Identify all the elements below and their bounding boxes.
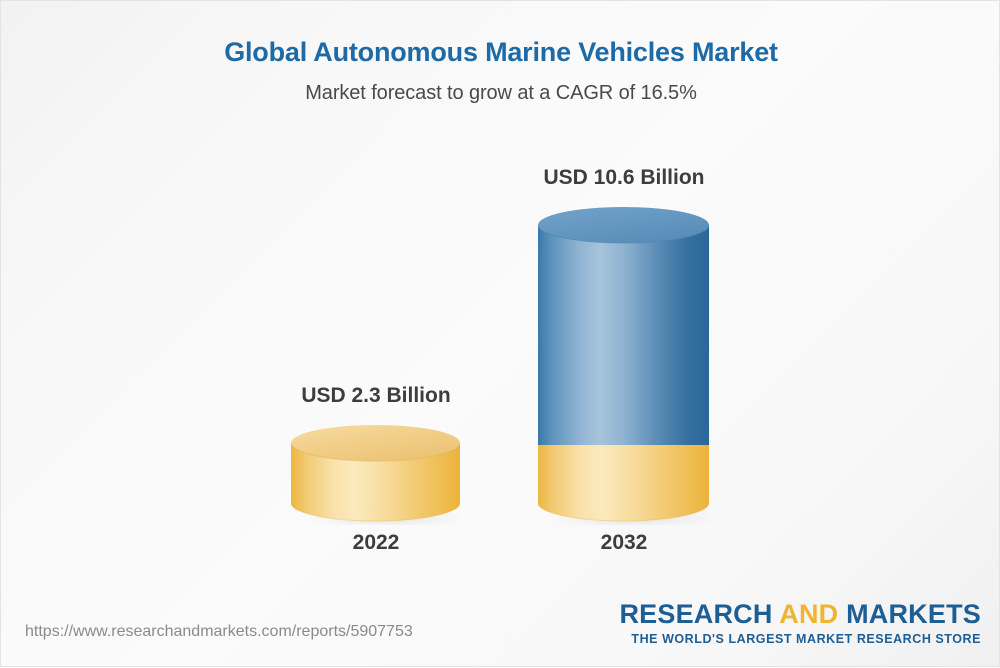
bar-cylinder-2032 xyxy=(538,207,709,525)
axis-label-2022: 2022 xyxy=(231,531,521,555)
logo-tagline: THE WORLD'S LARGEST MARKET RESEARCH STOR… xyxy=(619,633,981,646)
value-label-2032: USD 10.6 Billion xyxy=(479,166,769,190)
report-url[interactable]: https://www.researchandmarkets.com/repor… xyxy=(25,623,413,641)
logo-word-markets: MARKETS xyxy=(846,599,981,629)
value-label-2022: USD 2.3 Billion xyxy=(231,384,521,408)
bar-cylinder-2022 xyxy=(291,425,460,525)
logo-word-and: AND xyxy=(779,599,838,629)
infographic-canvas: Global Autonomous Marine Vehicles Market… xyxy=(0,0,1000,667)
logo-word-research: RESEARCH xyxy=(619,599,772,629)
logo-wordmark: RESEARCH AND MARKETS xyxy=(619,601,981,628)
axis-label-2032: 2032 xyxy=(479,531,769,555)
chart-plot-area: USD 2.3 Billion USD 10.6 Billion xyxy=(1,1,1000,668)
brand-logo[interactable]: RESEARCH AND MARKETS THE WORLD'S LARGEST… xyxy=(619,601,981,646)
